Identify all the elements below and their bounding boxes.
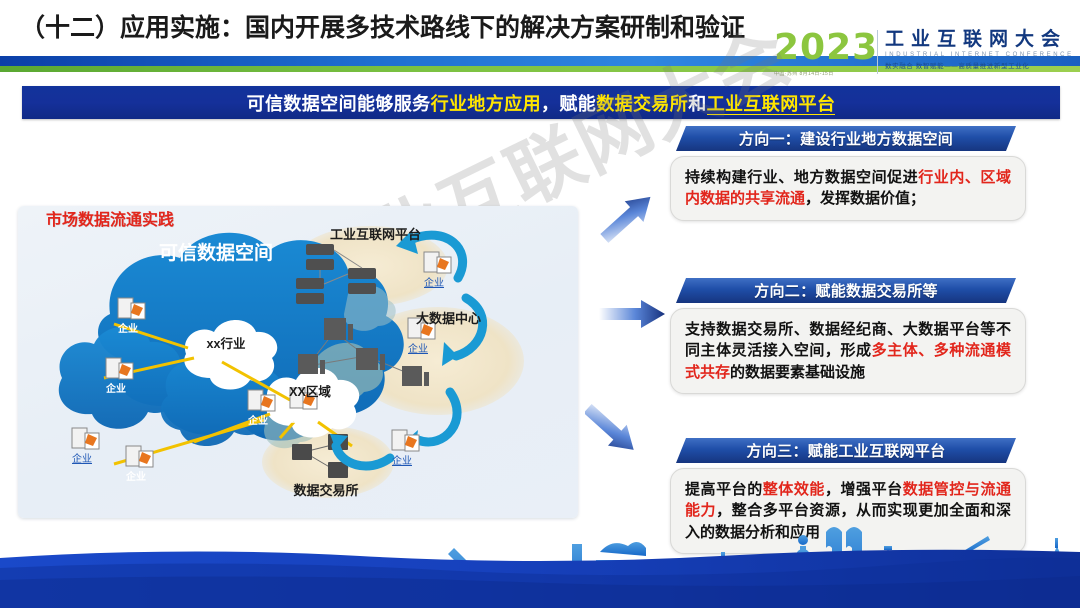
d1-seg-1: 持续构建行业、地方数据空间促进 [685,169,918,186]
direction-three-box: 方向三：赋能工业互联网平台 提高平台的整体效能，增强平台数据管控与流通能力，整合… [648,438,1068,554]
logo-date: 中国·苏州 8月14日-15日 [774,70,870,77]
diagram-graphics [18,206,578,518]
conference-logo: 2023 中国·苏州 8月14日-15日 工业互联网大会 INDUSTRIAL … [774,30,1074,82]
banner-seg-2-highlight: 行业地方应用 [431,94,541,114]
banner-seg-3: ，赋能 [541,94,596,114]
arrow-to-direction-three [585,398,643,460]
d3-seg-2-highlight: 整体效能 [763,481,825,498]
bottom-wave-band [0,550,1080,608]
logo-english-name: INDUSTRIAL INTERNET CONFERENCE [885,52,1074,58]
d1-seg-3: ，发挥数据价值； [805,190,925,207]
banner-seg-4-highlight: 数据交易所 [596,94,688,114]
direction-two-box: 方向二：赋能数据交易所等 支持数据交易所、数据经纪商、大数据平台等不同主体灵活接… [648,278,1068,394]
trusted-data-space-diagram: 市场数据流通实践 可信数据空间 xx行业 XX区域 工业互联网平台 大数据中心 … [18,206,578,518]
direction-three-header[interactable]: 方向三：赋能工业互联网平台 [676,438,1016,463]
logo-chinese-name: 工业互联网大会 [885,30,1074,50]
banner-seg-6-highlight: 工业互联网平台 [707,94,836,115]
banner-seg-1: 可信数据空间能够服务 [247,94,431,114]
direction-two-body: 支持数据交易所、数据经纪商、大数据平台等不同主体灵活接入空间，形成多主体、多种流… [670,308,1026,394]
page-title: （十二）应用实施：国内开展多技术路线下的解决方案研制和验证 [20,8,745,44]
direction-one-box: 方向一：建设行业地方数据空间 持续构建行业、地方数据空间促进行业内、区域内数据的… [648,126,1068,221]
logo-year-block: 2023 中国·苏州 8月14日-15日 [774,30,870,77]
banner-seg-5: 和 [688,94,706,114]
bottom-wave-band-2 [0,557,1080,608]
headline-banner-text: 可信数据空间能够服务行业地方应用，赋能数据交易所和工业互联网平台 [247,90,836,116]
headline-banner: 可信数据空间能够服务行业地方应用，赋能数据交易所和工业互联网平台 [22,86,1060,119]
d3-seg-1: 提高平台的 [685,481,763,498]
direction-one-body: 持续构建行业、地方数据空间促进行业内、区域内数据的共享流通，发挥数据价值； [670,156,1026,221]
d3-seg-3: ，增强平台 [825,481,903,498]
slide-root: （十二）应用实施：国内开展多技术路线下的解决方案研制和验证 2023 中国·苏州… [0,0,1080,608]
direction-three-body: 提高平台的整体效能，增强平台数据管控与流通能力，整合多平台资源，从而实现更加全面… [670,468,1026,554]
logo-tagline: 数实融合 数智赋能——高质量推进新型工业化 [885,60,1074,70]
bottom-wave-band-3 [0,576,1080,608]
logo-name-block: 工业互联网大会 INDUSTRIAL INTERNET CONFERENCE 数… [885,30,1074,70]
d2-seg-3: 的数据要素基础设施 [730,364,865,381]
d3-seg-5: ，整合多平台资源，从而实现更加全面和深入的数据分析和应用 [685,502,1011,540]
logo-year: 2023 [774,30,870,66]
direction-one-header[interactable]: 方向一：建设行业地方数据空间 [676,126,1016,151]
direction-two-header[interactable]: 方向二：赋能数据交易所等 [676,278,1016,303]
